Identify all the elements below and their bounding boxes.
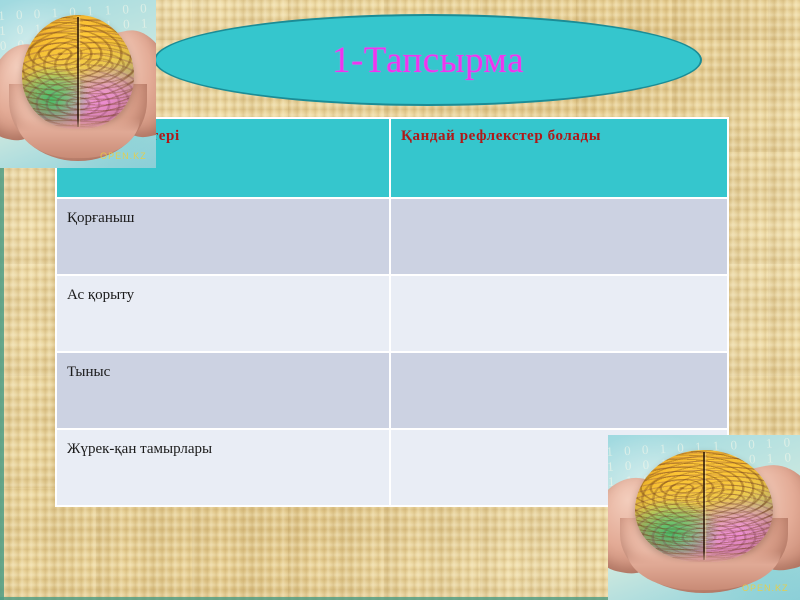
table-row: Қорғаныш <box>56 198 728 275</box>
image-watermark: OPEN.KZ <box>742 583 789 593</box>
cell-reflex-name: Ас қорыту <box>56 275 390 352</box>
cell-answer[interactable] <box>390 198 728 275</box>
table-row: Ас қорыту <box>56 275 728 352</box>
presentation-slide: 1-Тапсырма ми рефлекстері Қандай рефлекс… <box>0 0 800 600</box>
slide-title: 1-Тапсырма <box>332 42 524 79</box>
cell-answer[interactable] <box>390 275 728 352</box>
brain-fissure <box>703 452 705 560</box>
cell-reflex-name: Жүрек-қан тамырлары <box>56 429 390 506</box>
brain-icon <box>22 15 134 129</box>
brain-fissure <box>77 17 79 127</box>
cell-reflex-name: Қорғаныш <box>56 198 390 275</box>
table-row: Тыныс <box>56 352 728 429</box>
cell-answer[interactable] <box>390 352 728 429</box>
cell-reflex-name: Тыныс <box>56 352 390 429</box>
brain-icon <box>635 450 773 562</box>
column-header-which-reflexes: Қандай рефлекстер болады <box>390 118 728 198</box>
brain-in-hands-image-bottom-right: 1 0 0 1 0 1 1 0 0 1 0 1 0 0 1 1 0 1 0 0 … <box>608 435 800 600</box>
table-header-row: ми рефлекстері Қандай рефлекстер болады <box>56 118 728 198</box>
title-ellipse-shape: 1-Тапсырма <box>154 14 702 106</box>
brain-in-hands-image-top-left: 1 0 0 1 0 1 1 0 0 1 0 1 0 0 1 1 0 1 0 0 … <box>0 0 156 168</box>
image-watermark: OPEN.KZ <box>100 151 147 161</box>
